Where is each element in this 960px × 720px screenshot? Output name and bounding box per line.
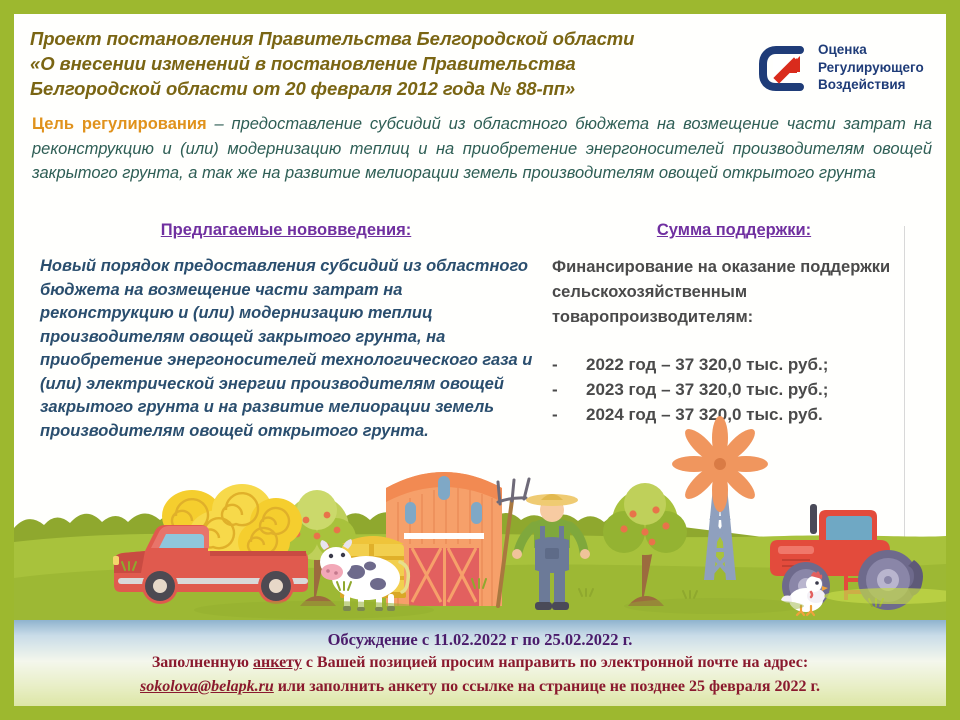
content-card: Проект постановления Правительства Белго…	[14, 14, 946, 706]
support-amount-intro: Финансирование на оказание поддержки сел…	[548, 255, 920, 330]
title-line-2: «О внесении изменений в постановление Пр…	[30, 51, 750, 76]
instruction-pre: Заполненную	[152, 654, 253, 671]
orv-logo-icon	[756, 40, 812, 96]
logo-line-2: Регулирующего	[818, 59, 936, 77]
proposed-innovations-heading: Предлагаемые нововведения:	[28, 219, 544, 241]
list-bullet: -	[552, 377, 586, 402]
list-item: -2023 год – 37 320,0 тыс. руб.;	[552, 377, 920, 402]
instruction-text: Заполненную анкету с Вашей позицией прос…	[14, 651, 946, 675]
instruction-post: с Вашей позицией просим направить по эле…	[302, 654, 808, 671]
title-line-3: Белгородской области от 20 февраля 2012 …	[30, 76, 750, 101]
support-amount-heading: Сумма поддержки:	[548, 219, 920, 241]
shade-patch-icon	[624, 598, 804, 614]
purpose-lead-label: Цель регулирования	[32, 115, 207, 133]
title-line-1: Проект постановления Правительства Белго…	[30, 26, 750, 51]
discussion-period-text: Обсуждение с 11.02.2022 г по 25.02.2022 …	[14, 620, 946, 651]
list-bullet: -	[552, 352, 586, 377]
orv-logo-text: Оценка Регулирующего Воздействия	[818, 41, 936, 94]
list-item: -2022 год – 37 320,0 тыс. руб.;	[552, 352, 920, 377]
email-line: sokolova@belapk.ru или заполнить анкету …	[14, 675, 946, 699]
logo-line-3: Воздействия	[818, 76, 936, 94]
page-title: Проект постановления Правительства Белго…	[30, 26, 750, 101]
list-item-text: 2023 год – 37 320,0 тыс. руб.;	[586, 380, 828, 399]
footer-banner: Обсуждение с 11.02.2022 г по 25.02.2022 …	[14, 620, 946, 706]
questionnaire-link[interactable]: анкету	[253, 654, 302, 671]
shade-patch-icon	[194, 601, 434, 619]
regulation-purpose-paragraph: Цель регулирования – предоставление субс…	[32, 112, 932, 186]
support-amount-column: Сумма поддержки: Финансирование на оказа…	[548, 219, 920, 427]
email-line-post: или заполнить анкету по ссылке на страни…	[274, 678, 820, 695]
farm-scene-illustration	[14, 410, 946, 620]
orv-logo: Оценка Регулирующего Воздействия	[756, 38, 936, 100]
email-link[interactable]: sokolova@belapk.ru	[140, 678, 274, 695]
logo-line-1: Оценка	[818, 41, 936, 59]
list-item-text: 2022 год – 37 320,0 тыс. руб.;	[586, 355, 828, 374]
slide-root: Проект постановления Правительства Белго…	[0, 0, 960, 720]
header: Проект постановления Правительства Белго…	[14, 14, 946, 106]
